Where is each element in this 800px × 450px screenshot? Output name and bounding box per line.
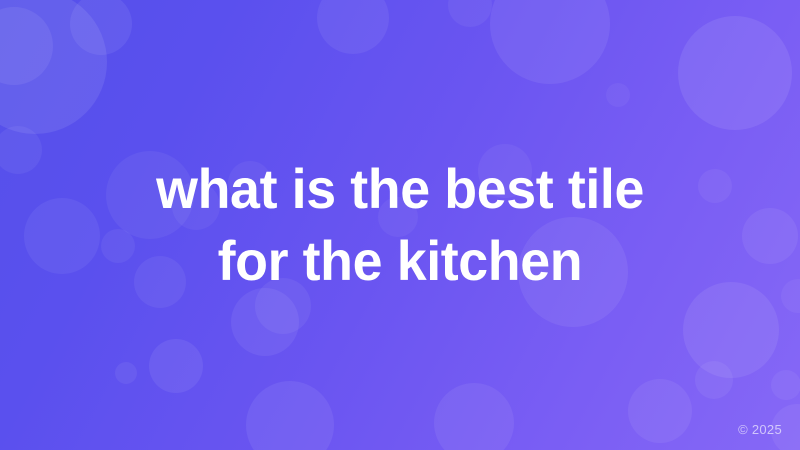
promo-banner: what is the best tile for the kitchen © … — [0, 0, 800, 450]
copyright-notice: © 2025 — [738, 422, 782, 438]
headline-line-2: for the kitchen — [218, 225, 583, 297]
headline-block: what is the best tile for the kitchen — [0, 0, 800, 450]
headline-line-1: what is the best tile — [156, 153, 644, 225]
